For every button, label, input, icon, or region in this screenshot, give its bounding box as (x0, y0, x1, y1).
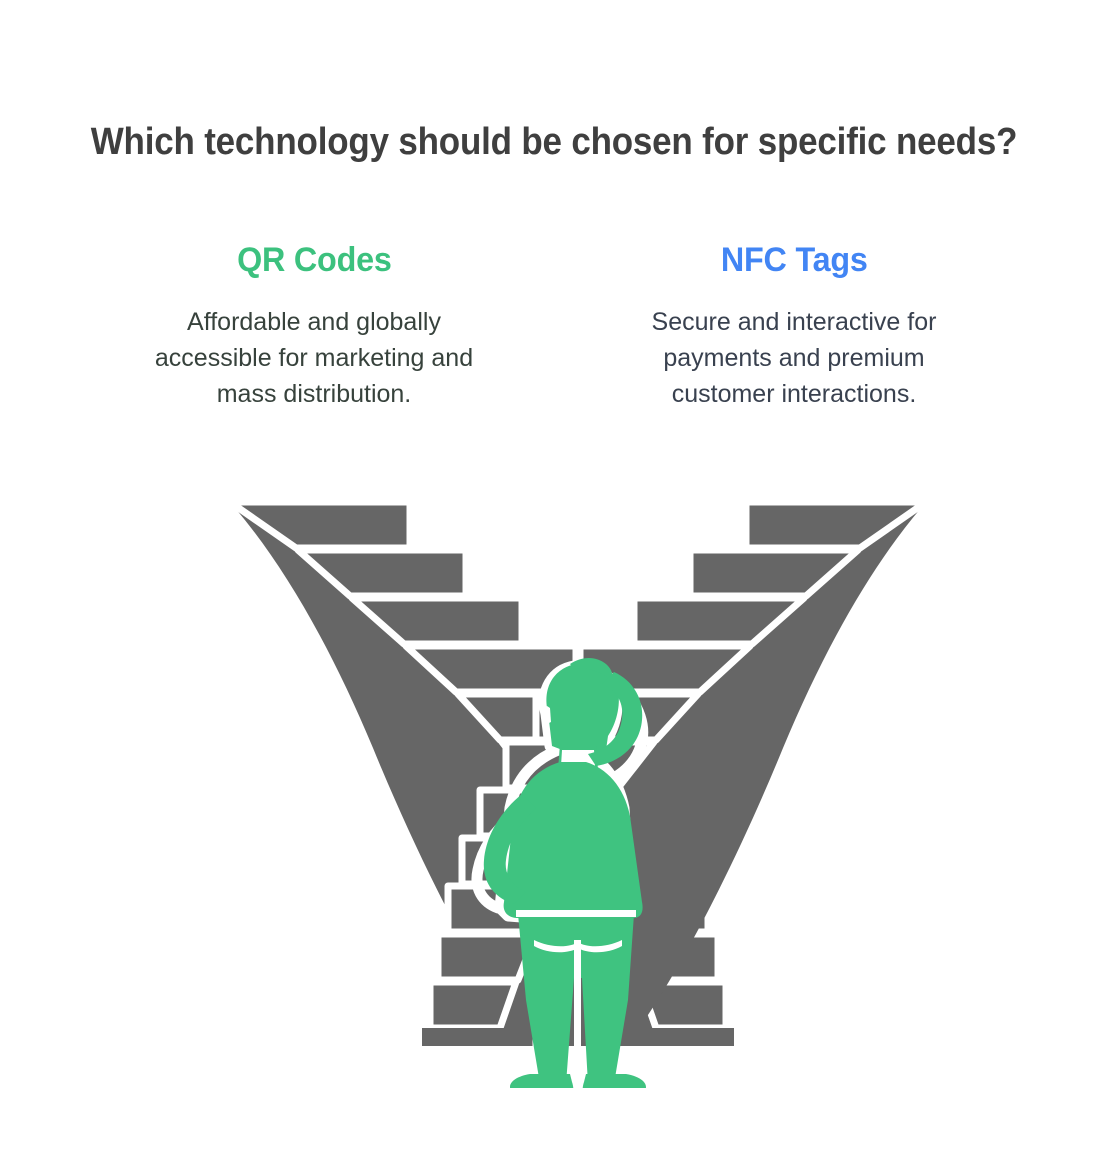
column-body-qr-codes: Affordable and globally accessible for m… (154, 304, 474, 412)
column-heading-nfc-tags: NFC Tags (721, 238, 868, 282)
staircase-illustration-svg (178, 478, 978, 1088)
decision-staircase-illustration (178, 478, 978, 1088)
column-heading-qr-codes: QR Codes (237, 238, 392, 282)
column-body-nfc-tags: Secure and interactive for payments and … (634, 304, 954, 412)
person-shoe-left (510, 1074, 573, 1088)
column-qr-codes: QR Codes Affordable and globally accessi… (114, 238, 514, 412)
person-shoe-right (583, 1074, 646, 1088)
comparison-columns: QR Codes Affordable and globally accessi… (0, 238, 1108, 412)
page-title: Which technology should be chosen for sp… (44, 119, 1063, 165)
slide-root: Which technology should be chosen for sp… (0, 0, 1108, 1159)
column-nfc-tags: NFC Tags Secure and interactive for paym… (594, 238, 994, 412)
